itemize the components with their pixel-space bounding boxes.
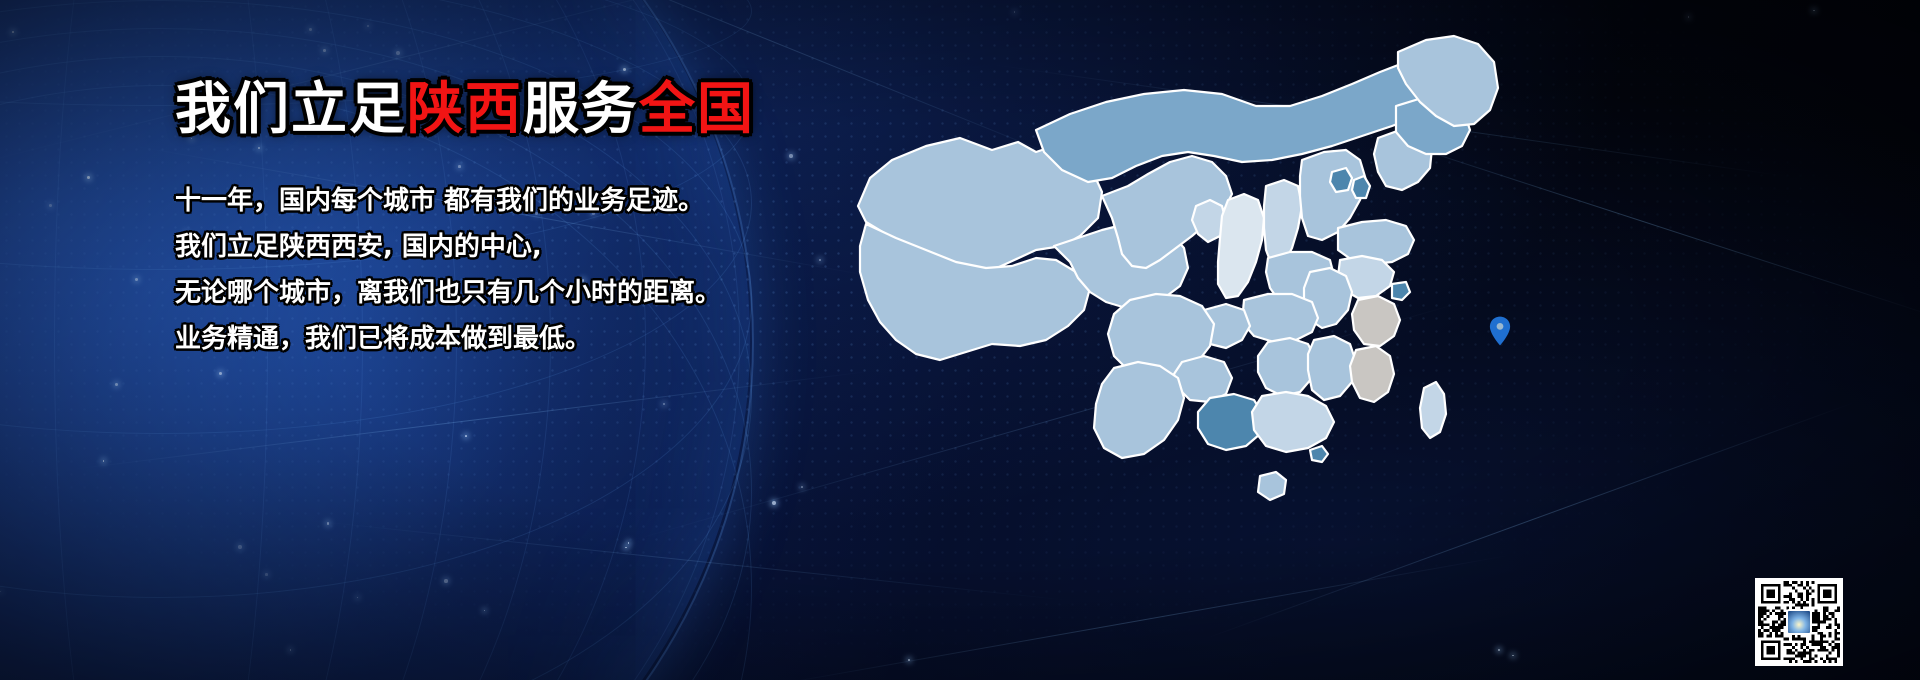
map-region-beijing[interactable] <box>1330 168 1352 192</box>
qr-center-logo-icon <box>1786 609 1812 635</box>
promo-banner: 我们立足陕西服务全国 十一年，国内每个城市 都有我们的业务足迹。我们立足陕西西安… <box>0 0 1920 680</box>
headline-segment-0: 我们立足 <box>175 77 407 142</box>
headline-segment-1: 陕西 <box>407 77 523 142</box>
body-line-1: 我们立足陕西西安, 国内的中心, <box>175 224 875 270</box>
map-region-tianjin[interactable] <box>1352 176 1370 198</box>
map-region-zhejiang[interactable] <box>1352 296 1400 346</box>
map-region-hubei[interactable] <box>1242 294 1318 342</box>
map-region-shanghai[interactable] <box>1392 282 1410 300</box>
page-title: 我们立足陕西服务全国 <box>175 82 875 138</box>
map-region-guangdong[interactable] <box>1252 392 1334 452</box>
body-line-2: 无论哪个城市，离我们也只有几个小时的距离。 <box>175 270 875 316</box>
location-pin-icon[interactable] <box>1489 316 1511 346</box>
map-region-taiwan[interactable] <box>1420 382 1446 438</box>
headline-segment-3: 全国 <box>639 77 755 142</box>
headline-segment-2: 服务 <box>523 77 639 142</box>
map-region-hainan[interactable] <box>1258 472 1286 500</box>
map-region-hongkong[interactable] <box>1310 446 1328 462</box>
body-line-3: 业务精通，我们已将成本做到最低。 <box>175 316 875 362</box>
map-region-fujian[interactable] <box>1350 346 1394 402</box>
china-map-svg <box>840 10 1520 550</box>
map-region-yunnan[interactable] <box>1094 362 1184 458</box>
copy-block: 我们立足陕西服务全国 十一年，国内每个城市 都有我们的业务足迹。我们立足陕西西安… <box>175 82 875 362</box>
body-copy: 十一年，国内每个城市 都有我们的业务足迹。我们立足陕西西安, 国内的中心,无论哪… <box>175 178 875 362</box>
map-region-shaanxi[interactable] <box>1218 194 1264 298</box>
china-map <box>840 10 1520 550</box>
body-line-0: 十一年，国内每个城市 都有我们的业务足迹。 <box>175 178 875 224</box>
qr-code[interactable] <box>1755 578 1843 666</box>
map-region-jiangxi[interactable] <box>1308 336 1356 400</box>
